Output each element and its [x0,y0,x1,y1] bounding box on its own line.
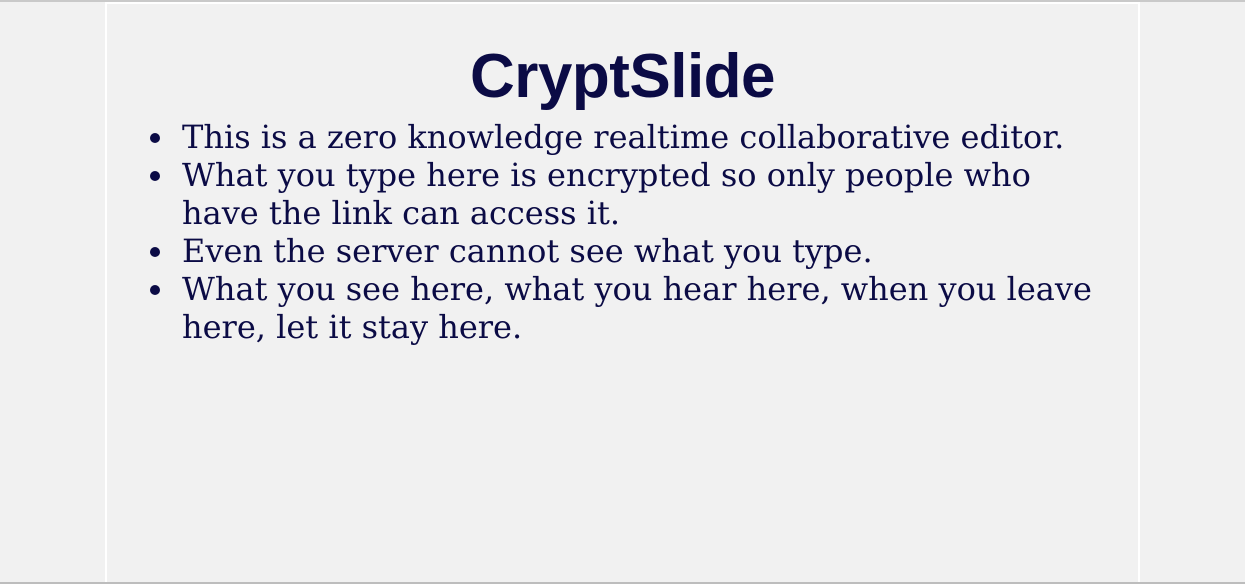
list-item[interactable]: Even the server cannot see what you type… [145,232,1098,270]
slide-canvas[interactable]: CryptSlide This is a zero knowledge real… [105,2,1140,582]
slide-title[interactable]: CryptSlide [107,46,1138,108]
list-item-text: What you see here, what you hear here, w… [182,270,1098,346]
list-item[interactable]: This is a zero knowledge realtime collab… [145,118,1098,156]
slide-bullet-list[interactable]: This is a zero knowledge realtime collab… [145,118,1098,346]
bullet-disc-icon [150,133,160,143]
bullet-disc-icon [150,247,160,257]
list-item-text: Even the server cannot see what you type… [182,232,1098,270]
list-item-text: This is a zero knowledge realtime collab… [182,118,1098,156]
list-item[interactable]: What you see here, what you hear here, w… [145,270,1098,346]
bullet-disc-icon [150,171,160,181]
list-item-text: What you type here is encrypted so only … [182,156,1098,232]
list-item[interactable]: What you type here is encrypted so only … [145,156,1098,232]
bullet-disc-icon [150,285,160,295]
